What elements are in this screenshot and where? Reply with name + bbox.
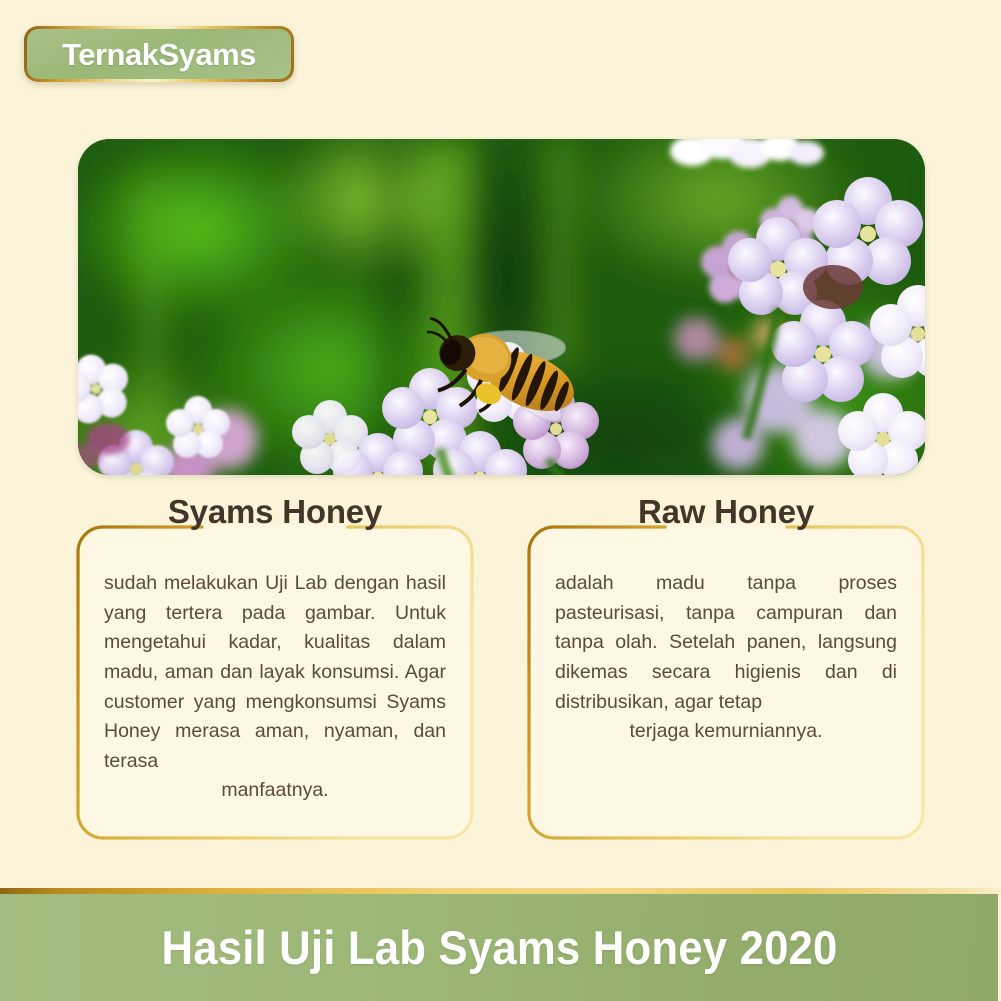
brand-logo-badge[interactable]: TernakSyams bbox=[24, 26, 294, 82]
info-card-raw-honey: Raw Honey adalah madu tanpa proses paste… bbox=[527, 525, 925, 840]
card-title-raw-honey: Raw Honey bbox=[527, 495, 925, 528]
card-body-text: adalah madu tanpa proses pasteurisasi, t… bbox=[555, 572, 897, 713]
brand-logo-text-light: Ternak bbox=[62, 37, 158, 72]
card-body-syams-honey: sudah melakukan Uji Lab dengan hasil yan… bbox=[104, 569, 446, 806]
brand-logo-text-bold: Syams bbox=[158, 37, 255, 72]
brand-logo-text: TernakSyams bbox=[62, 39, 256, 70]
info-card-syams-honey: Syams Honey sudah melakukan Uji Lab deng… bbox=[76, 525, 474, 840]
bottom-banner: Hasil Uji Lab Syams Honey 2020 bbox=[0, 894, 998, 1001]
card-body-text: sudah melakukan Uji Lab dengan hasil yan… bbox=[104, 572, 446, 772]
card-title-syams-honey: Syams Honey bbox=[76, 495, 474, 528]
poster-root: TernakSyams bbox=[0, 0, 1001, 1001]
brand-logo-inner: TernakSyams bbox=[27, 29, 291, 79]
banner-title: Hasil Uji Lab Syams Honey 2020 bbox=[161, 920, 837, 975]
card-body-raw-honey: adalah madu tanpa proses pasteurisasi, t… bbox=[555, 569, 897, 747]
card-body-last-line: manfaatnya. bbox=[104, 776, 446, 806]
card-body-last-line: terjaga kemurniannya. bbox=[555, 717, 897, 747]
honeybee-on-flowers-image bbox=[78, 139, 925, 475]
hero-photo-frame bbox=[78, 139, 925, 475]
